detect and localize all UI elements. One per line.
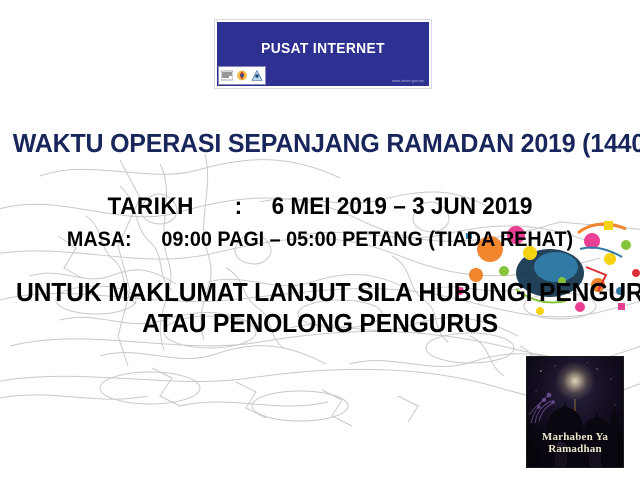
time-value: 09:00 PAGI – 05:00 PETANG (TIADA REHAT) bbox=[161, 228, 573, 251]
contact-line-1: UNTUK MAKLUMAT LANJUT SILA HUBUNGI PENGU… bbox=[16, 277, 624, 308]
ramadan-caption: Marhaben Ya Ramadhan bbox=[527, 431, 623, 455]
ramadan-caption-line-2: Ramadhan bbox=[527, 443, 623, 455]
time-row: MASA: 09:00 PAGI – 05:00 PETANG (TIADA R… bbox=[19, 228, 621, 252]
banner-title: PUSAT INTERNET bbox=[225, 40, 420, 57]
ramadan-caption-line-1: Marhaben Ya bbox=[527, 431, 623, 443]
date-row: TARIKH : 6 MEI 2019 – 3 JUN 2019 bbox=[19, 193, 621, 221]
poster-canvas: PUSAT INTERNET www.ktmm.gov.my bbox=[0, 0, 640, 480]
banner-logo-strip bbox=[218, 66, 266, 85]
ramadan-greeting-image: Marhaben Ya Ramadhan bbox=[527, 357, 623, 467]
pusat-internet-banner: PUSAT INTERNET www.ktmm.gov.my bbox=[215, 20, 431, 88]
date-value: 6 MEI 2019 – 3 JUN 2019 bbox=[272, 193, 533, 220]
banner-url-text: www.ktmm.gov.my bbox=[392, 79, 424, 83]
time-label: MASA: bbox=[67, 228, 132, 251]
contact-line-2: ATAU PENOLONG PENGURUS bbox=[16, 308, 624, 339]
date-label: TARIKH bbox=[108, 193, 194, 220]
date-separator: : bbox=[231, 193, 246, 220]
agency-logo-1-icon bbox=[221, 69, 233, 82]
agency-logo-2-icon bbox=[236, 69, 248, 82]
page-title: WAKTU OPERASI SEPANJANG RAMADAN 2019 (14… bbox=[13, 128, 627, 159]
agency-logo-3-icon bbox=[251, 69, 263, 82]
